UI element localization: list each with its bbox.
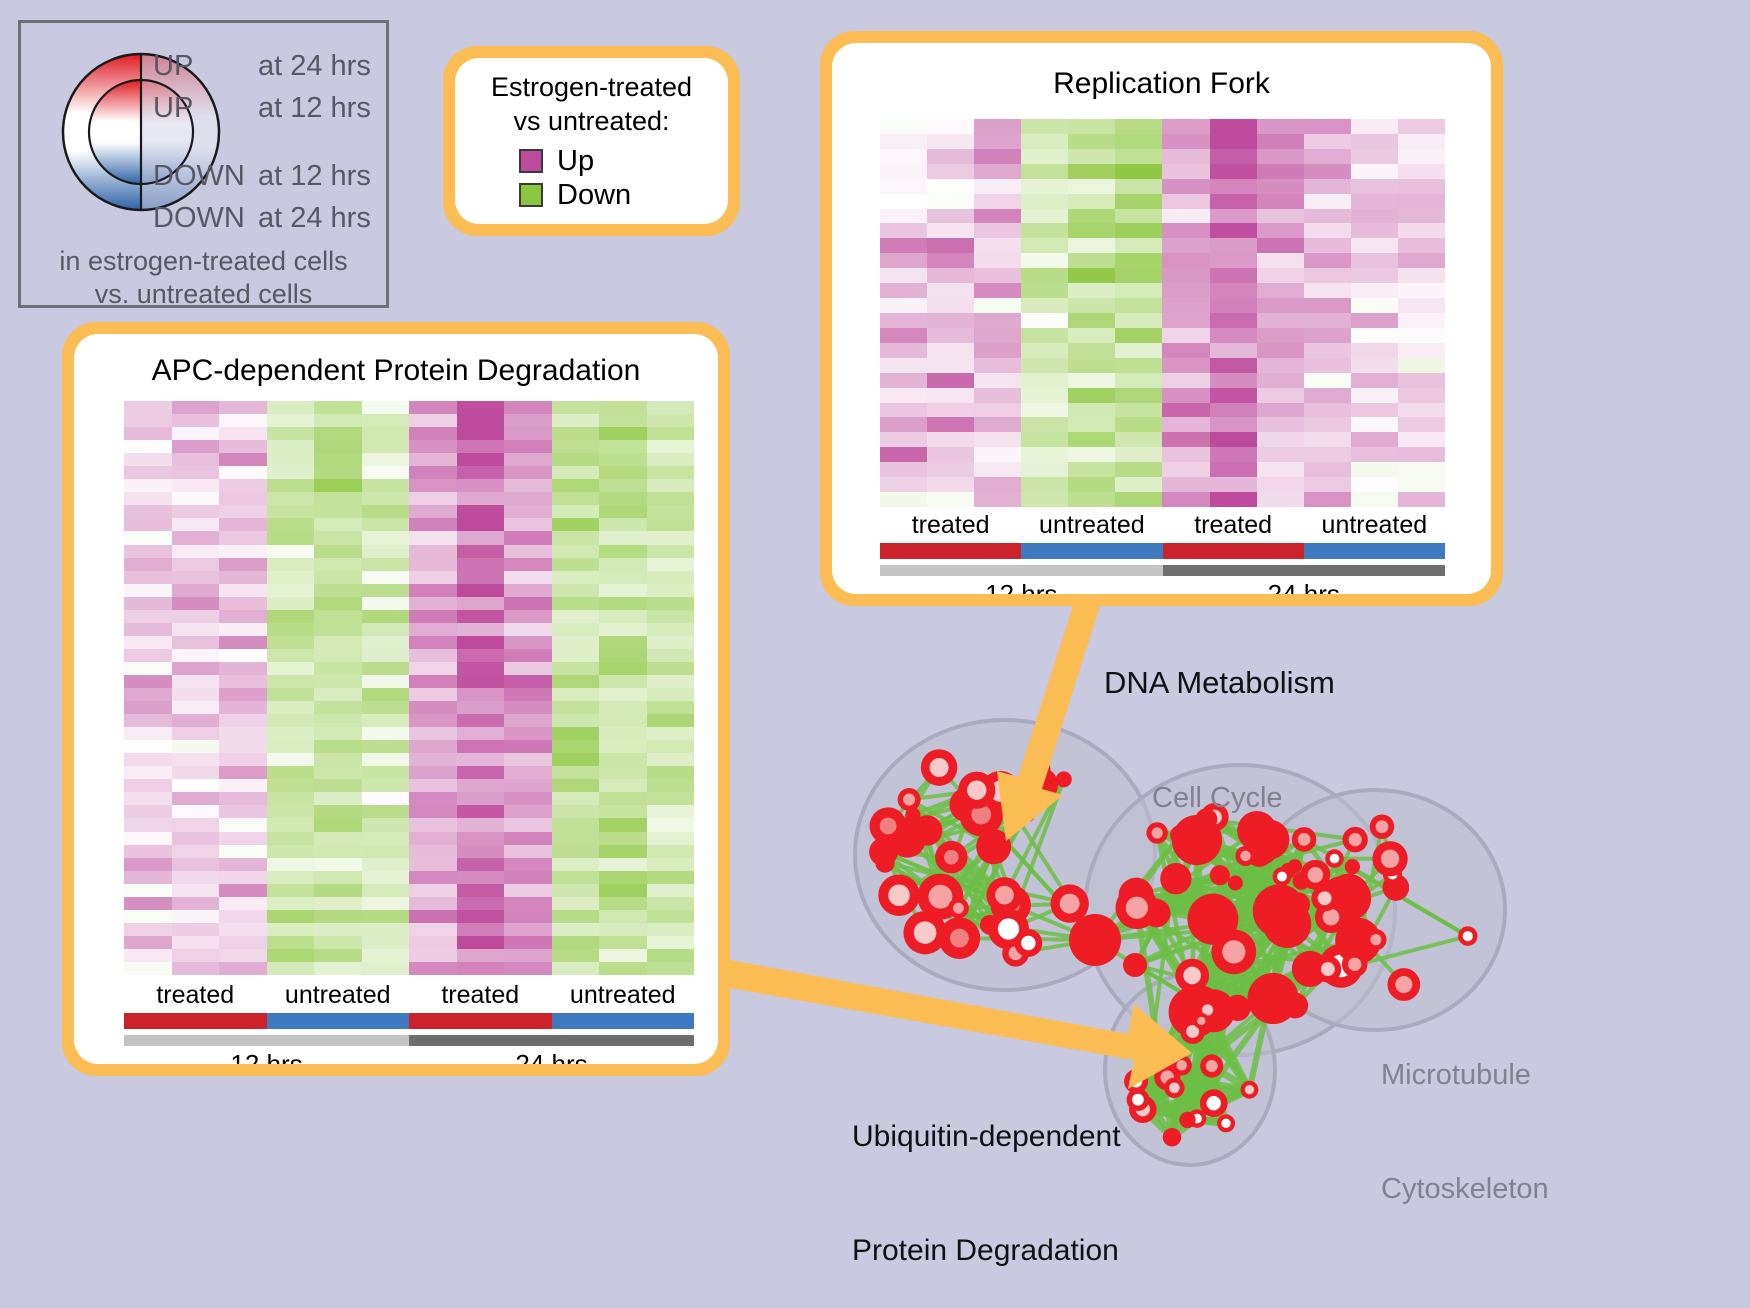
heatmap-cell — [1068, 313, 1115, 328]
heatmap-cell — [219, 401, 267, 414]
legend-item-down: Down — [519, 178, 718, 212]
heatmap-cell — [1068, 119, 1115, 134]
network-node-core — [1321, 962, 1335, 976]
heatmap-cell — [409, 545, 457, 558]
heatmap-cell — [267, 714, 315, 727]
heatmap-cell — [1021, 343, 1068, 358]
key-caption-line1: in estrogen-treated cells — [21, 245, 386, 278]
heatmap-cell — [219, 558, 267, 571]
heatmap-cell — [1351, 447, 1398, 462]
key-direction: UP — [153, 50, 258, 83]
network-node-core — [1370, 934, 1381, 945]
heatmap-cell — [1257, 194, 1304, 209]
heatmap-cell — [219, 518, 267, 531]
heatmap-cell — [504, 688, 552, 701]
heatmap-cell — [409, 727, 457, 740]
heatmap-cell — [647, 466, 695, 479]
heatmap-cell — [1115, 223, 1162, 238]
heatmap-cell — [314, 492, 362, 505]
network-node-core — [1130, 1075, 1142, 1087]
heatmap-cell — [599, 858, 647, 871]
heatmap-cell — [314, 832, 362, 845]
heatmap-cell — [219, 792, 267, 805]
network-node[interactable] — [1163, 1128, 1182, 1147]
heatmap-cell — [124, 479, 172, 492]
network-node[interactable] — [1187, 894, 1238, 945]
network-node[interactable] — [1210, 865, 1230, 885]
heatmap-cell — [974, 432, 1021, 447]
heatmap-cell — [647, 845, 695, 858]
heatmap-cell — [457, 531, 505, 544]
heatmap-cell — [974, 358, 1021, 373]
heatmap-cell — [647, 688, 695, 701]
apc-column-labels: treateduntreatedtreateduntreated — [124, 981, 694, 1010]
heatmap-cell — [880, 209, 927, 224]
heatmap-cell — [599, 832, 647, 845]
heatmap-cell — [409, 805, 457, 818]
heatmap-cell — [124, 662, 172, 675]
heatmap-cell — [647, 962, 695, 975]
heatmap-cell — [974, 388, 1021, 403]
heatmap-cell — [457, 805, 505, 818]
heatmap-cell — [504, 962, 552, 975]
heatmap-cell — [124, 897, 172, 910]
heatmap-cell — [552, 792, 600, 805]
heatmap-cell — [1398, 328, 1445, 343]
network-node-core — [1330, 854, 1340, 864]
heatmap-cell — [362, 453, 410, 466]
heatmap-cell — [927, 194, 974, 209]
heatmap-cell — [1021, 149, 1068, 164]
heatmap-cell — [267, 466, 315, 479]
heatmap-cell — [1115, 268, 1162, 283]
heatmap-cell — [457, 505, 505, 518]
heatmap-cell — [267, 440, 315, 453]
replication-fork-column-labels: treateduntreatedtreateduntreated — [880, 511, 1445, 540]
heatmap-cell — [504, 584, 552, 597]
heatmap-cell — [124, 740, 172, 753]
heatmap-cell — [267, 662, 315, 675]
heatmap-cell — [974, 298, 1021, 313]
heatmap-cell — [409, 871, 457, 884]
heatmap-cell — [219, 805, 267, 818]
heatmap-cell — [1304, 313, 1351, 328]
heatmap-cell — [1021, 298, 1068, 313]
heatmap-cell — [362, 858, 410, 871]
heatmap-cell — [927, 223, 974, 238]
heatmap-cell — [219, 584, 267, 597]
heatmap-cell — [409, 962, 457, 975]
heatmap-cell — [409, 571, 457, 584]
heatmap-cell — [504, 662, 552, 675]
expression-key-box: UP at 24 hrs UP at 12 hrs DOWN at 12 hrs… — [18, 20, 389, 308]
heatmap-cell — [1398, 343, 1445, 358]
heatmap-cell — [362, 675, 410, 688]
key-caption: in estrogen-treated cells vs. untreated … — [21, 245, 386, 311]
heatmap-cell — [599, 714, 647, 727]
heatmap-cell — [172, 805, 220, 818]
heatmap-cell — [314, 949, 362, 962]
heatmap-cell — [124, 675, 172, 688]
heatmap-cell — [267, 949, 315, 962]
heatmap-cell — [552, 466, 600, 479]
heatmap-cell — [599, 518, 647, 531]
heatmap-cell — [647, 923, 695, 936]
heatmap-cell — [1162, 119, 1209, 134]
heatmap-cell — [974, 149, 1021, 164]
network-node[interactable] — [1253, 884, 1306, 937]
heatmap-cell — [599, 597, 647, 610]
heatmap-cell — [1162, 149, 1209, 164]
network-node[interactable] — [1022, 767, 1058, 803]
heatmap-cell — [1162, 358, 1209, 373]
key-direction: DOWN — [153, 160, 258, 193]
heatmap-cell — [267, 962, 315, 975]
network-node-core — [930, 758, 949, 777]
time-group-label: 12 hrs — [124, 1049, 409, 1064]
legend-panel-inner: Estrogen-treated vs untreated: Up Down — [455, 58, 728, 224]
heatmap-cell — [599, 897, 647, 910]
heatmap-cell — [647, 805, 695, 818]
heatmap-cell — [880, 179, 927, 194]
heatmap-cell — [1398, 432, 1445, 447]
heatmap-cell — [219, 832, 267, 845]
network-node-core — [1169, 1082, 1180, 1093]
heatmap-cell — [172, 545, 220, 558]
network-node-core — [1021, 936, 1036, 951]
heatmap-cell — [552, 858, 600, 871]
network-node-core — [1221, 1119, 1230, 1128]
network-node-core — [1176, 1060, 1187, 1071]
heatmap-cell — [172, 518, 220, 531]
network-node[interactable] — [1250, 820, 1290, 860]
heatmap-cell — [409, 753, 457, 766]
legend-item-up: Up — [519, 144, 718, 178]
heatmap-cell — [362, 792, 410, 805]
heatmap-cell — [552, 518, 600, 531]
apc-degradation-title: APC-dependent Protein Degradation — [74, 354, 718, 388]
heatmap-cell — [880, 373, 927, 388]
heatmap-cell — [457, 636, 505, 649]
heatmap-cell — [124, 884, 172, 897]
heatmap-cell — [1068, 238, 1115, 253]
heatmap-cell — [1257, 179, 1304, 194]
key-row: DOWN at 12 hrs — [153, 155, 383, 197]
heatmap-cell — [1210, 313, 1257, 328]
heatmap-cell — [1162, 268, 1209, 283]
heatmap-cell — [457, 766, 505, 779]
heatmap-cell — [172, 584, 220, 597]
heatmap-cell — [409, 766, 457, 779]
heatmap-cell — [1257, 388, 1304, 403]
heatmap-cell — [172, 597, 220, 610]
heatmap-cell — [1021, 223, 1068, 238]
heatmap-cell — [1398, 164, 1445, 179]
heatmap-cell — [1398, 238, 1445, 253]
heatmap-cell — [504, 714, 552, 727]
heatmap-cell — [1210, 343, 1257, 358]
heatmap-cell — [362, 753, 410, 766]
heatmap-cell — [647, 571, 695, 584]
heatmap-cell — [974, 328, 1021, 343]
heatmap-cell — [599, 636, 647, 649]
heatmap-cell — [1210, 149, 1257, 164]
heatmap-cell — [124, 518, 172, 531]
heatmap-cell — [124, 531, 172, 544]
heatmap-cell — [1162, 209, 1209, 224]
heatmap-cell — [124, 401, 172, 414]
network-node-core — [914, 921, 937, 944]
heatmap-cell — [314, 845, 362, 858]
heatmap-cell — [409, 792, 457, 805]
network-node[interactable] — [1228, 875, 1243, 890]
treatment-color-bar — [1163, 543, 1304, 559]
heatmap-cell — [457, 401, 505, 414]
network-node-core — [1022, 809, 1031, 818]
heatmap-cell — [1162, 253, 1209, 268]
heatmap-cell — [267, 897, 315, 910]
heatmap-cell — [219, 414, 267, 427]
heatmap-cell — [974, 343, 1021, 358]
heatmap-cell — [552, 479, 600, 492]
heatmap-cell — [124, 571, 172, 584]
heatmap-cell — [927, 403, 974, 418]
heatmap-cell — [1351, 313, 1398, 328]
heatmap-cell — [1398, 403, 1445, 418]
heatmap-cell — [1210, 492, 1257, 507]
heatmap-cell — [267, 610, 315, 623]
heatmap-cell — [1068, 343, 1115, 358]
heatmap-cell — [124, 845, 172, 858]
network-node-core — [1183, 967, 1201, 985]
heatmap-cell — [1115, 194, 1162, 209]
heatmap-cell — [599, 505, 647, 518]
heatmap-cell — [927, 432, 974, 447]
heatmap-cell — [880, 134, 927, 149]
heatmap-cell — [219, 897, 267, 910]
heatmap-cell — [1398, 447, 1445, 462]
network-node[interactable] — [1069, 914, 1121, 966]
heatmap-cell — [314, 597, 362, 610]
heatmap-cell — [880, 238, 927, 253]
heatmap-cell — [1304, 447, 1351, 462]
apc-time-labels: 12 hrs24 hrs — [124, 1049, 694, 1064]
heatmap-cell — [314, 779, 362, 792]
heatmap-cell — [1068, 298, 1115, 313]
heatmap-cell — [457, 818, 505, 831]
heatmap-cell — [1021, 373, 1068, 388]
heatmap-cell — [1021, 492, 1068, 507]
heatmap-cell — [124, 818, 172, 831]
heatmap-cell — [927, 447, 974, 462]
heatmap-cell — [1398, 134, 1445, 149]
key-direction: UP — [153, 92, 258, 125]
heatmap-cell — [172, 401, 220, 414]
heatmap-cell — [504, 897, 552, 910]
heatmap-cell — [599, 753, 647, 766]
heatmap-cell — [1351, 432, 1398, 447]
heatmap-cell — [219, 466, 267, 479]
heatmap-cell — [172, 858, 220, 871]
heatmap-cell — [219, 858, 267, 871]
heatmap-cell — [362, 636, 410, 649]
heatmap-cell — [457, 753, 505, 766]
heatmap-cell — [267, 558, 315, 571]
heatmap-cell — [172, 571, 220, 584]
heatmap-cell — [647, 910, 695, 923]
network-node[interactable] — [1056, 771, 1072, 787]
network-node-core — [1206, 1060, 1218, 1072]
heatmap-cell — [172, 727, 220, 740]
heatmap-cell — [362, 871, 410, 884]
heatmap-cell — [314, 962, 362, 975]
heatmap-cell — [1351, 298, 1398, 313]
heatmap-cell — [647, 597, 695, 610]
heatmap-cell — [504, 727, 552, 740]
network-node-core — [1381, 850, 1399, 868]
heatmap-cell — [1115, 164, 1162, 179]
heatmap-cell — [409, 414, 457, 427]
heatmap-cell — [314, 897, 362, 910]
replication-fork-heatmap — [880, 119, 1445, 507]
network-node[interactable] — [875, 853, 894, 872]
heatmap-cell — [267, 623, 315, 636]
network-node[interactable] — [1179, 1112, 1195, 1128]
heatmap-cell — [1115, 492, 1162, 507]
heatmap-cell — [504, 440, 552, 453]
heatmap-cell — [457, 545, 505, 558]
heatmap-cell — [1304, 283, 1351, 298]
heatmap-cell — [552, 649, 600, 662]
network-node[interactable] — [1345, 859, 1360, 874]
heatmap-cell — [1304, 492, 1351, 507]
heatmap-cell — [552, 545, 600, 558]
heatmap-cell — [1115, 328, 1162, 343]
key-row: UP at 12 hrs — [153, 87, 383, 129]
heatmap-cell — [1068, 447, 1115, 462]
heatmap-cell — [1304, 134, 1351, 149]
heatmap-cell — [267, 688, 315, 701]
heatmap-cell — [1021, 358, 1068, 373]
heatmap-cell — [552, 818, 600, 831]
heatmap-cell — [1304, 417, 1351, 432]
heatmap-cell — [1021, 253, 1068, 268]
treatment-color-bar — [409, 1013, 552, 1029]
heatmap-cell — [1398, 268, 1445, 283]
heatmap-cell — [267, 792, 315, 805]
heatmap-cell — [314, 675, 362, 688]
heatmap-cell — [409, 440, 457, 453]
heatmap-cell — [409, 636, 457, 649]
heatmap-cell — [219, 910, 267, 923]
heatmap-cell — [362, 584, 410, 597]
network-node[interactable] — [1123, 953, 1147, 977]
cluster-label-dna-metabolism: DNA Metabolism — [1104, 665, 1335, 701]
heatmap-cell — [552, 597, 600, 610]
network-node[interactable] — [1160, 863, 1191, 894]
network-node[interactable] — [1172, 815, 1222, 865]
heatmap-cell — [362, 610, 410, 623]
cluster-label-cell-cycle: Cell Cycle — [1152, 782, 1283, 815]
heatmap-cell — [409, 949, 457, 962]
cluster-label-ubiquitin-degradation: Ubiquitin-dependent Protein Degradation — [852, 1042, 1121, 1308]
heatmap-cell — [927, 164, 974, 179]
heatmap-cell — [599, 792, 647, 805]
heatmap-cell — [1257, 373, 1304, 388]
heatmap-cell — [314, 584, 362, 597]
heatmap-cell — [647, 414, 695, 427]
heatmap-cell — [362, 884, 410, 897]
heatmap-cell — [552, 727, 600, 740]
heatmap-cell — [1021, 417, 1068, 432]
heatmap-cell — [880, 298, 927, 313]
heatmap-cell — [1162, 492, 1209, 507]
heatmap-cell — [974, 253, 1021, 268]
heatmap-cell — [1115, 313, 1162, 328]
heatmap-cell — [314, 662, 362, 675]
heatmap-cell — [1115, 432, 1162, 447]
heatmap-cell — [172, 427, 220, 440]
heatmap-cell — [219, 492, 267, 505]
legend-label-up: Up — [557, 144, 594, 178]
heatmap-cell — [1398, 462, 1445, 477]
heatmap-cell — [504, 858, 552, 871]
heatmap-cell — [1068, 358, 1115, 373]
heatmap-cell — [124, 766, 172, 779]
heatmap-cell — [1210, 238, 1257, 253]
heatmap-cell — [1162, 417, 1209, 432]
heatmap-cell — [552, 714, 600, 727]
heatmap-cell — [1257, 417, 1304, 432]
heatmap-cell — [457, 727, 505, 740]
heatmap-cell — [314, 766, 362, 779]
heatmap-cell — [314, 649, 362, 662]
heatmap-cell — [1210, 119, 1257, 134]
heatmap-cell — [314, 871, 362, 884]
heatmap-cell — [409, 936, 457, 949]
heatmap-cell — [219, 818, 267, 831]
heatmap-cell — [172, 962, 220, 975]
heatmap-cell — [1210, 298, 1257, 313]
network-node-core — [903, 794, 915, 806]
heatmap-cell — [552, 949, 600, 962]
heatmap-cell — [504, 818, 552, 831]
heatmap-cell — [457, 740, 505, 753]
heatmap-cell — [124, 597, 172, 610]
network-node[interactable] — [1248, 973, 1299, 1024]
network-node[interactable] — [976, 829, 1011, 864]
heatmap-cell — [974, 164, 1021, 179]
heatmap-cell — [457, 688, 505, 701]
heatmap-cell — [172, 558, 220, 571]
heatmap-cell — [172, 466, 220, 479]
heatmap-cell — [409, 649, 457, 662]
heatmap-cell — [552, 766, 600, 779]
heatmap-cell — [1210, 432, 1257, 447]
heatmap-cell — [314, 936, 362, 949]
heatmap-cell — [362, 505, 410, 518]
heatmap-cell — [1115, 462, 1162, 477]
heatmap-cell — [1351, 328, 1398, 343]
heatmap-cell — [599, 466, 647, 479]
heatmap-cell — [1351, 253, 1398, 268]
heatmap-cell — [124, 753, 172, 766]
heatmap-cell — [457, 714, 505, 727]
heatmap-cell — [927, 373, 974, 388]
heatmap-cell — [1398, 149, 1445, 164]
heatmap-cell — [504, 545, 552, 558]
heatmap-cell — [880, 164, 927, 179]
